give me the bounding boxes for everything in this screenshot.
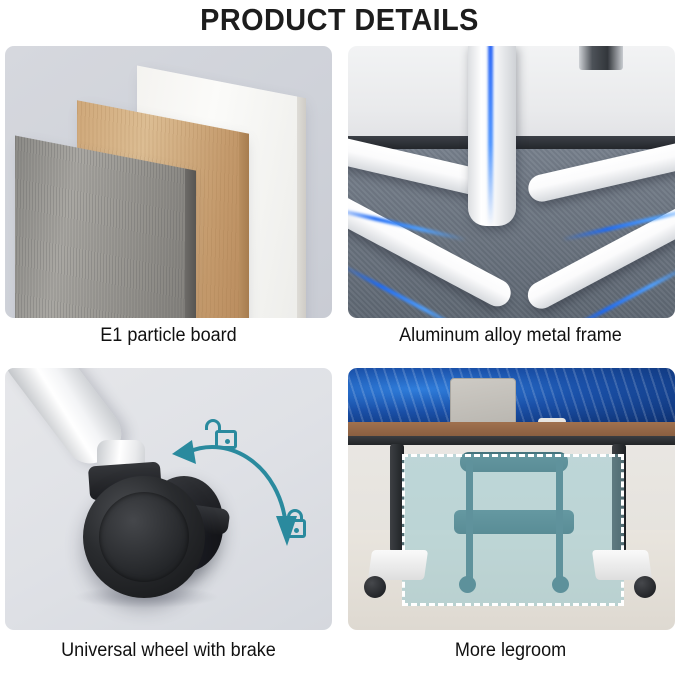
board-gray	[15, 135, 185, 318]
page-title: PRODUCT DETAILS	[24, 2, 655, 38]
monitor-stand-foot	[579, 46, 623, 70]
metal-frame-image	[348, 46, 675, 318]
legroom-highlight-area	[402, 454, 624, 606]
legroom-image	[348, 368, 675, 630]
lock-body	[284, 519, 306, 538]
board-gray-edge	[185, 169, 196, 318]
caption-metal-frame: Aluminum alloy metal frame	[350, 325, 670, 347]
caption-universal-wheel: Universal wheel with brake	[8, 640, 328, 662]
particle-board-image	[5, 46, 332, 318]
column-blue-glow	[488, 46, 493, 226]
desk-caster-left	[364, 576, 386, 598]
laptop	[450, 378, 516, 426]
feature-card-legroom	[348, 368, 675, 630]
desk-caster-right	[634, 576, 656, 598]
feature-card-particle-board	[5, 46, 332, 318]
board-white-edge	[297, 97, 306, 318]
caption-legroom: More legroom	[350, 640, 670, 662]
feature-card-metal-frame	[348, 46, 675, 318]
product-details-page: PRODUCT DETAILS E1 particle board Alu	[0, 0, 679, 673]
unlock-body	[215, 430, 237, 449]
board-oak-edge	[239, 132, 249, 318]
desk-top-surface	[348, 422, 675, 436]
unlock-shackle	[205, 419, 221, 430]
center-column	[468, 46, 516, 226]
caption-particle-board: E1 particle board	[8, 325, 328, 347]
